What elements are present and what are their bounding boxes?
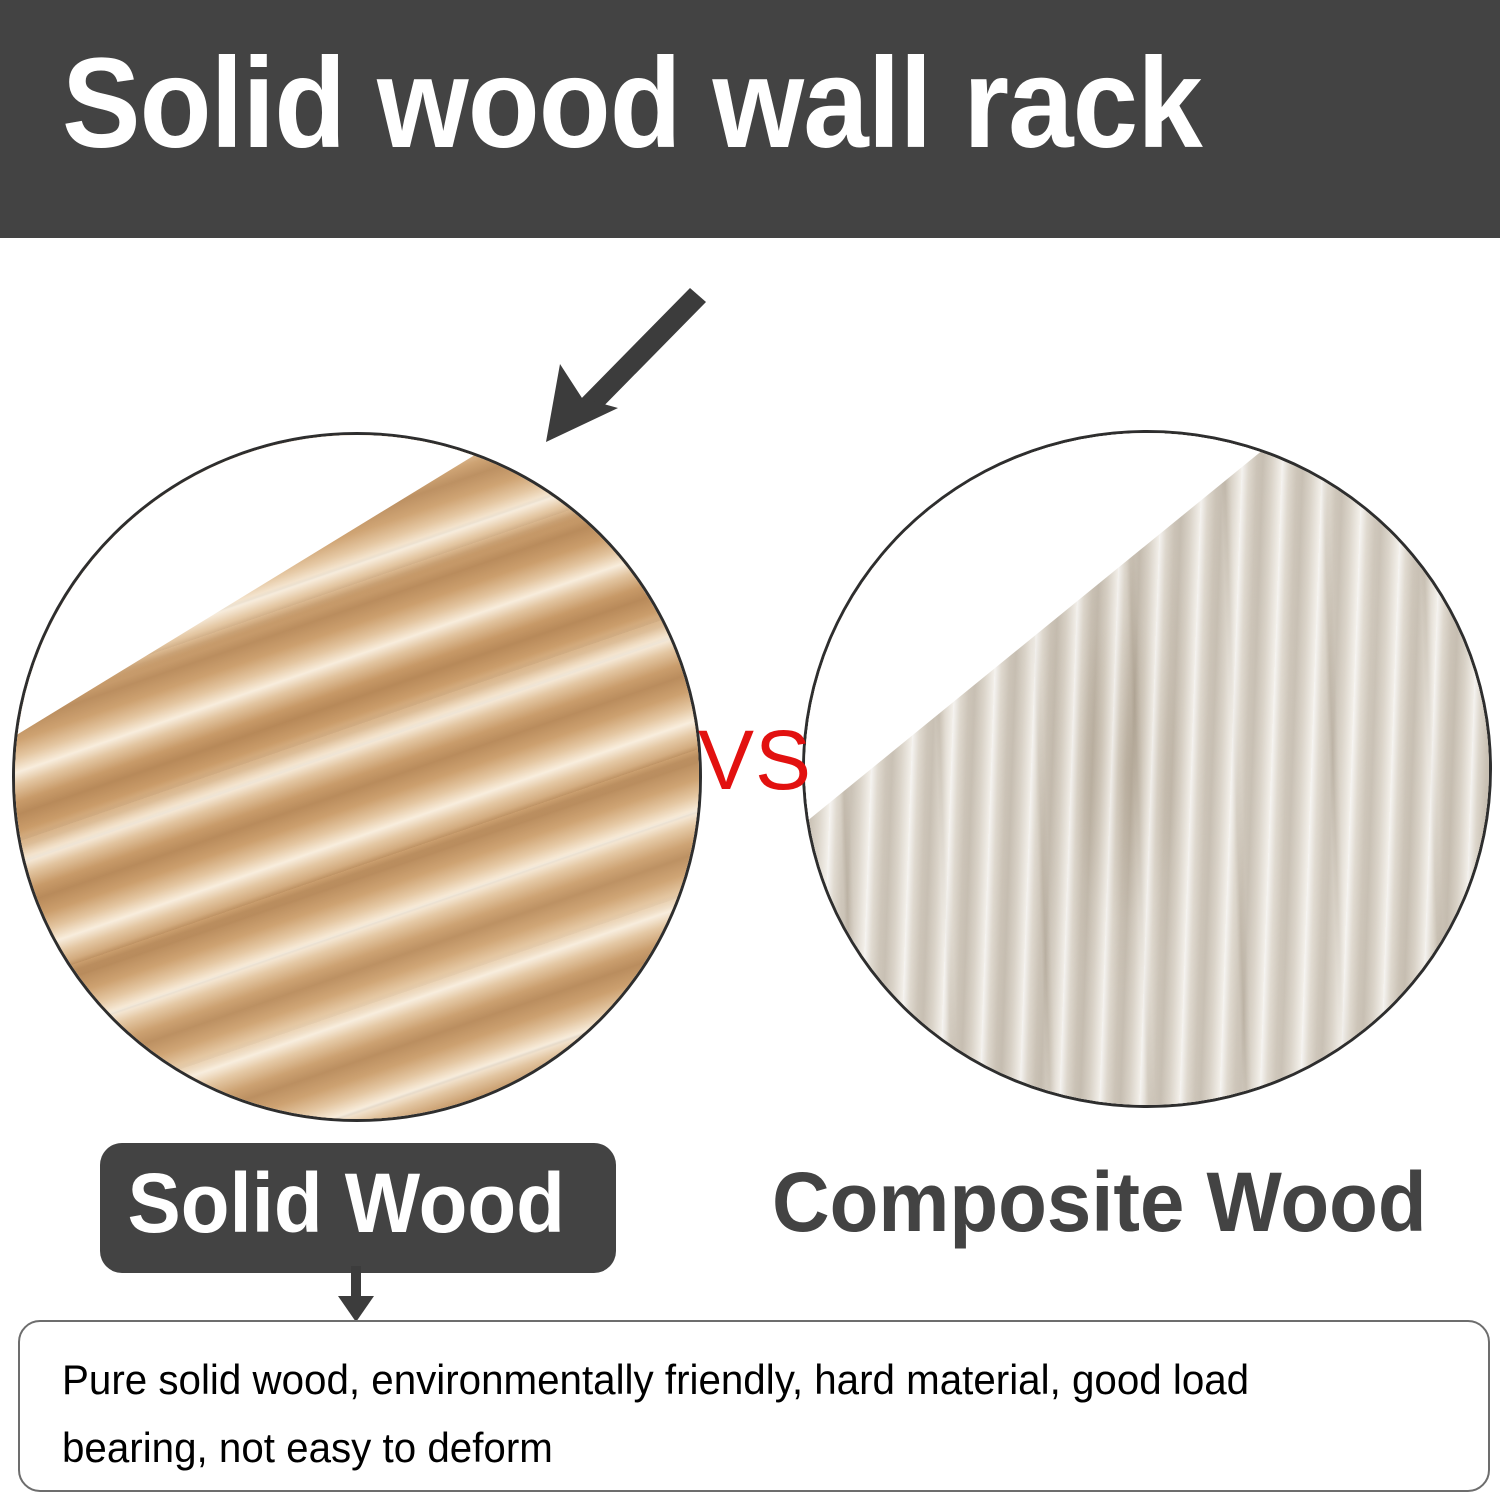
versus-label: VS — [698, 718, 812, 802]
header-banner: Solid wood wall rack — [0, 0, 1500, 238]
description-text: Pure solid wood, environmentally friendl… — [62, 1346, 1398, 1482]
diagonal-arrow-down-left-icon — [520, 282, 720, 452]
composite-wood-caption-label: Composite Wood — [772, 1148, 1427, 1257]
description-panel: Pure solid wood, environmentally friendl… — [18, 1320, 1490, 1492]
product-comparison-infographic: Solid wood wall rack VS Solid Wood Compo… — [0, 0, 1500, 1500]
solid-wood-caption-badge: Solid Wood — [100, 1143, 616, 1273]
composite-wood-sample-circle — [802, 430, 1492, 1108]
solid-wood-sample-circle — [12, 432, 702, 1122]
solid-wood-caption-label: Solid Wood — [122, 1149, 570, 1258]
page-title: Solid wood wall rack — [62, 28, 1202, 179]
arrow-down-icon — [330, 1266, 382, 1324]
